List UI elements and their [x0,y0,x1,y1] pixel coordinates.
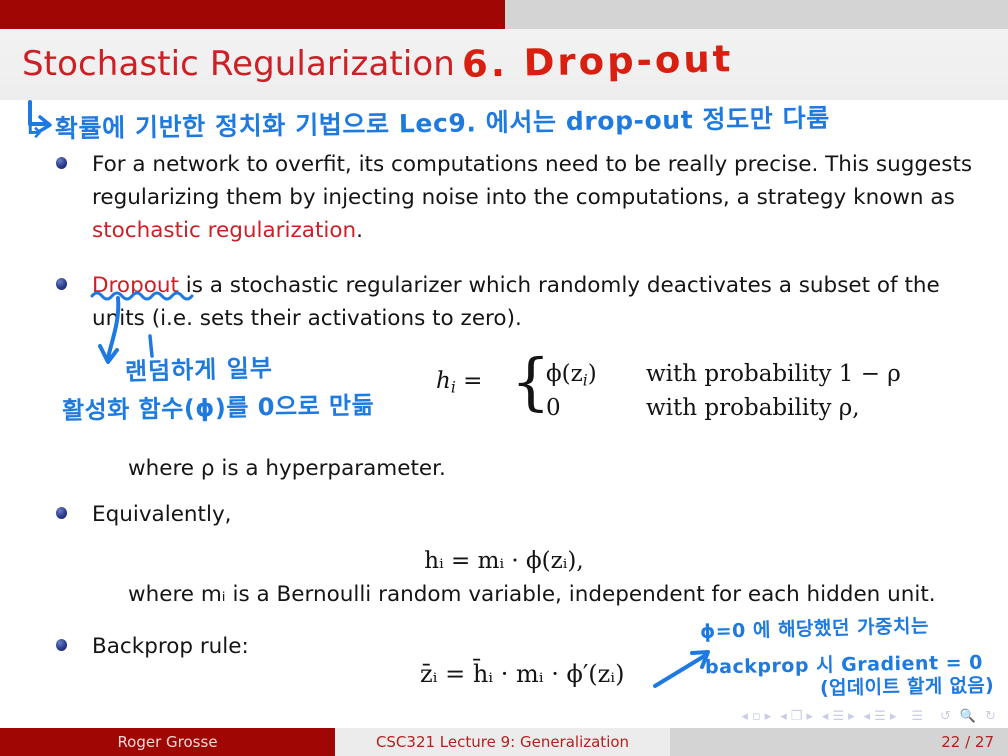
bullet-text: For a network to overfit, its computatio… [92,148,986,247]
nav-section-group[interactable]: ◂ ☰ ▸ [864,709,897,724]
bullet-dot-icon [56,639,67,651]
emphasis-dropout: Dropout [92,269,179,302]
cases-lhs-symbol: h [436,368,451,394]
nav-left-triangle-icon[interactable]: ◂ [741,709,748,724]
bullet-text-tail: . [356,218,363,243]
bullet-text-lead: For a network to overfit, its computatio… [92,152,972,210]
cases-row1-condition: with probability 1 − ρ [646,361,901,387]
nav-left-triangle-icon[interactable]: ◂ [864,709,871,724]
nav-subsection-group[interactable]: ◂ ☰ ▸ [822,709,855,724]
previous-section-icon[interactable]: ☰ [874,709,886,724]
header-accent-bar-red [0,0,505,29]
slide-canvas: Stochastic Regularization 6. Drop-out ↳ … [0,0,1008,756]
previous-frame-icon[interactable]: ❐ [791,709,803,724]
nav-right-triangle-icon[interactable]: ▸ [765,709,772,724]
cases-lhs: hi = [436,368,482,396]
handwritten-title-annotation: 6. Drop-out [462,37,734,86]
bullet-dropout-definition: Dropout is a stochastic regularizer whic… [56,269,986,335]
footer-page-number: 22 / 27 [670,728,1008,756]
cases-row1-value: ϕ(zi) [546,361,597,389]
cases-row1-paren: ) [588,361,597,387]
header-accent-bar-gray [505,0,1008,29]
bullet-text: Equivalently, [92,498,986,531]
cases-row2-value: 0 [546,395,561,421]
annotation-random-partial: 랜덤하게 일부 [125,348,274,387]
nav-right-triangle-icon[interactable]: ▸ [890,709,897,724]
footer-bar: Roger Grosse CSC321 Lecture 9: Generaliz… [0,728,1008,756]
where-m-text: where mᵢ is a Bernoulli random variable,… [128,578,936,611]
bullet-dot-icon [56,157,67,169]
page-title: Stochastic Regularization [22,44,455,84]
bullet-list: For a network to overfit, its computatio… [56,148,986,349]
backprop-equation: z̄ᵢ = h̄ᵢ · mᵢ · ϕ′(zᵢ) [420,660,625,688]
nav-left-triangle-icon[interactable]: ◂ [822,709,829,724]
bullet-dot-icon [56,278,67,290]
footer-author: Roger Grosse [0,728,335,756]
nav-right-triangle-icon[interactable]: ▸ [848,709,855,724]
table-of-contents-icon[interactable]: ☰ [911,709,923,724]
equivalent-equation: hᵢ = mᵢ · ϕ(zᵢ), [0,548,1008,574]
emphasis-stochastic-regularization: stochastic regularization [92,218,356,243]
footer-course: CSC321 Lecture 9: Generalization [335,728,670,756]
annotation-no-update-note: (업데이트 할게 없음) [820,670,994,700]
bullet-text-tail: is a stochastic regularizer which random… [92,273,940,331]
first-slide-icon[interactable]: ▫ [752,709,761,724]
bullet-equivalently: Equivalently, [56,498,986,531]
cases-row2-condition: with probability ρ, [646,395,860,421]
previous-subsection-icon[interactable]: ☰ [832,709,844,724]
annotation-activation-zero: 활성화 함수(ϕ)를 0으로 만듦 [62,385,375,425]
cases-equals: = [463,368,482,394]
search-icon[interactable]: 🔍 [960,709,976,724]
bullet-dot-icon [56,507,67,519]
cases-row1-phi: ϕ(z [546,361,583,387]
where-rho-text: where ρ is a hyperparameter. [128,452,446,485]
cases-lhs-subscript: i [451,377,456,396]
bullet-text: Dropout is a stochastic regularizer whic… [92,269,986,335]
back-icon[interactable]: ↺ [940,709,951,724]
nav-right-triangle-icon[interactable]: ▸ [806,709,813,724]
beamer-navigation-bar[interactable]: ◂ ▫ ▸ ◂ ❐ ▸ ◂ ☰ ▸ ◂ ☰ ▸ ☰ ↺ 🔍 ↻ [741,709,996,724]
nav-frame-group[interactable]: ◂ ❐ ▸ [780,709,813,724]
forward-icon[interactable]: ↻ [985,709,996,724]
nav-first-slide-group[interactable]: ◂ ▫ ▸ [741,709,771,724]
handwritten-header-note: ↳ 확률에 기반한 정치화 기법으로 Lec9. 에서는 drop-out 정도… [24,98,830,145]
nav-left-triangle-icon[interactable]: ◂ [780,709,787,724]
cases-brace: { [511,351,550,413]
bullet-overfit-precision: For a network to overfit, its computatio… [56,148,986,247]
